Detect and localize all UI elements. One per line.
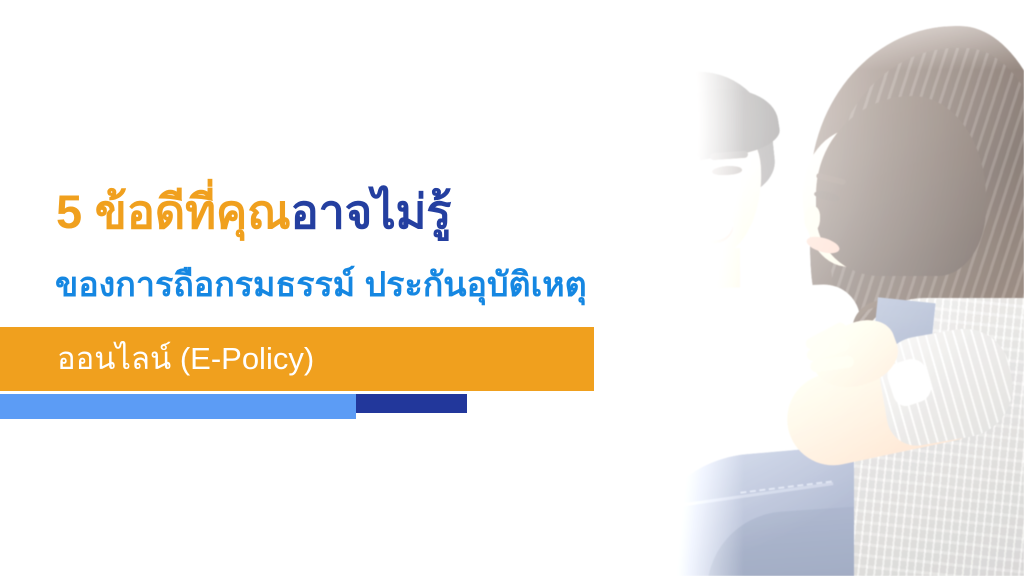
headline-line-2: ของการถือกรมธรรม์ ประกันอุบัติเหตุ bbox=[55, 268, 587, 302]
man-nose bbox=[686, 186, 706, 220]
man-shirt-button bbox=[702, 322, 712, 332]
promotional-banner: 5 ข้อดีที่คุณอาจไม่รู้ ของการถือกรมธรรม์… bbox=[0, 0, 1024, 576]
accent-bar-light-blue bbox=[0, 394, 356, 419]
man-shirt-placket bbox=[704, 306, 712, 386]
man-ear bbox=[630, 168, 652, 200]
orange-bar-label: ออนไลน์ (E-Policy) bbox=[57, 336, 314, 382]
couple-photo bbox=[554, 0, 1024, 576]
accent-bar-navy bbox=[356, 394, 467, 413]
headline-line-1: 5 ข้อดีที่คุณอาจไม่รู้ bbox=[56, 188, 451, 235]
headline-line-1-orange: 5 ข้อดีที่คุณ bbox=[56, 185, 291, 238]
man-collar-right bbox=[708, 289, 774, 352]
woman-nose bbox=[804, 206, 820, 232]
headline-line-1-navy: อาจไม่รู้ bbox=[291, 185, 452, 238]
